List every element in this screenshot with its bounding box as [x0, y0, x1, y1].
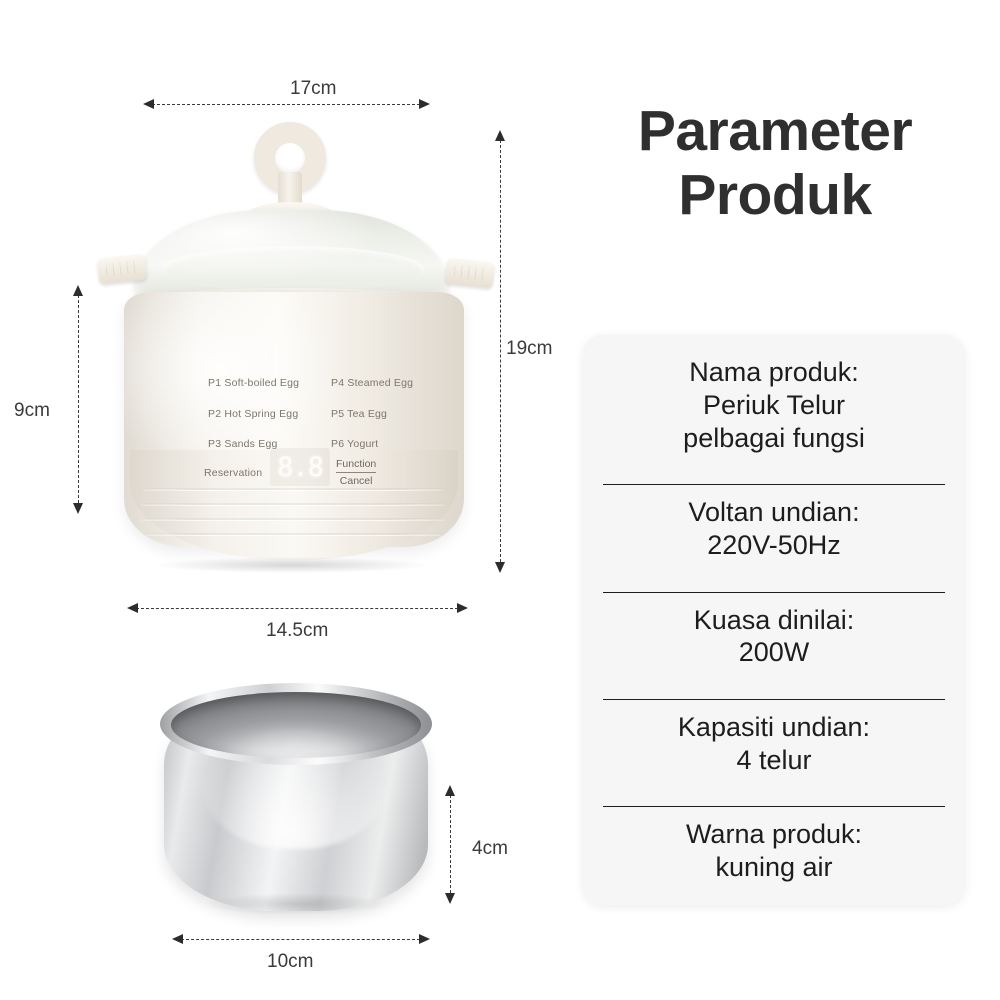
spec-value: kuning air [601, 851, 947, 884]
dimension-line-4cm [450, 795, 451, 893]
dimension-arrow-left-10cm [172, 934, 183, 944]
dimension-label-10cm: 10cm [267, 951, 313, 973]
cancel-label: Cancel [336, 473, 376, 487]
spec-label: Kuasa dinilai: [601, 604, 947, 637]
spec-value: 4 telur [601, 744, 947, 777]
dimension-line-17cm [152, 104, 420, 105]
dimension-arrow-down-4cm [445, 893, 455, 904]
dimension-arrow-down-19cm [495, 562, 505, 573]
program-label-p1: P1 Soft-boiled Egg [208, 377, 299, 389]
dimension-arrow-up-9cm [73, 285, 83, 296]
dimension-arrow-right-17cm [419, 99, 430, 109]
spec-value: 220V-50Hz [601, 529, 947, 562]
program-label-p6: P6 Yogurt [331, 438, 378, 450]
bowl-drop-shadow [204, 893, 388, 915]
dimension-arrow-up-19cm [495, 130, 505, 141]
spec-value-second-line: pelbagai fungsi [601, 422, 947, 455]
program-label-p5: P5 Tea Egg [331, 408, 387, 420]
spec-value: 200W [601, 636, 947, 669]
dimension-line-10cm [181, 939, 420, 940]
dimension-arrow-left-14-5cm [127, 603, 138, 613]
led-display: 8.8 [270, 448, 330, 486]
program-label-p3: P3 Sands Egg [208, 438, 278, 450]
spec-row-power: Kuasa dinilai: 200W [601, 592, 947, 682]
spec-label: Nama produk: [601, 356, 947, 389]
dimension-label-4cm: 4cm [472, 838, 508, 860]
dimension-arrow-right-14-5cm [457, 603, 468, 613]
page-title: Parameter Produk [560, 100, 990, 228]
function-cancel-button: Function Cancel [336, 458, 376, 487]
spec-row-color: Warna produk: kuning air [601, 806, 947, 896]
egg-cooker-product-image: P1 Soft-boiled Egg P2 Hot Spring Egg P3 … [96, 120, 496, 590]
spec-row-product-name: Nama produk: Periuk Telur pelbagai fungs… [601, 344, 947, 467]
dimension-line-14-5cm [136, 608, 458, 609]
dimension-label-9cm: 9cm [14, 400, 50, 422]
control-panel: P1 Soft-boiled Egg P2 Hot Spring Egg P3 … [96, 120, 496, 590]
program-label-p2: P2 Hot Spring Egg [208, 408, 298, 420]
page-title-line-1: Parameter [560, 100, 990, 164]
dimension-line-19cm [500, 140, 501, 562]
dimension-label-14-5cm: 14.5cm [266, 620, 328, 642]
program-label-p4: P4 Steamed Egg [331, 377, 413, 389]
specification-card: Nama produk: Periuk Telur pelbagai fungs… [583, 335, 965, 905]
function-label: Function [336, 458, 376, 473]
spec-row-capacity: Kapasiti undian: 4 telur [601, 699, 947, 789]
dimension-arrow-left-17cm [143, 99, 154, 109]
product-spec-graphic: Parameter Produk Nama produk: Periuk Tel… [0, 0, 1000, 1000]
spec-value: Periuk Telur [601, 389, 947, 422]
dimension-label-19cm: 19cm [506, 338, 552, 360]
dimension-line-9cm [78, 295, 79, 503]
spec-row-voltage: Voltan undian: 220V-50Hz [601, 484, 947, 574]
dimension-arrow-up-4cm [445, 785, 455, 796]
spec-label: Voltan undian: [601, 496, 947, 529]
dimension-label-17cm: 17cm [290, 78, 336, 100]
spec-label: Kapasiti undian: [601, 711, 947, 744]
reservation-label: Reservation [204, 467, 262, 479]
stainless-steel-inner-bowl [160, 683, 432, 918]
spec-label: Warna produk: [601, 818, 947, 851]
dimension-arrow-right-10cm [419, 934, 430, 944]
dimension-arrow-down-9cm [73, 503, 83, 514]
page-title-line-2: Produk [560, 164, 990, 228]
